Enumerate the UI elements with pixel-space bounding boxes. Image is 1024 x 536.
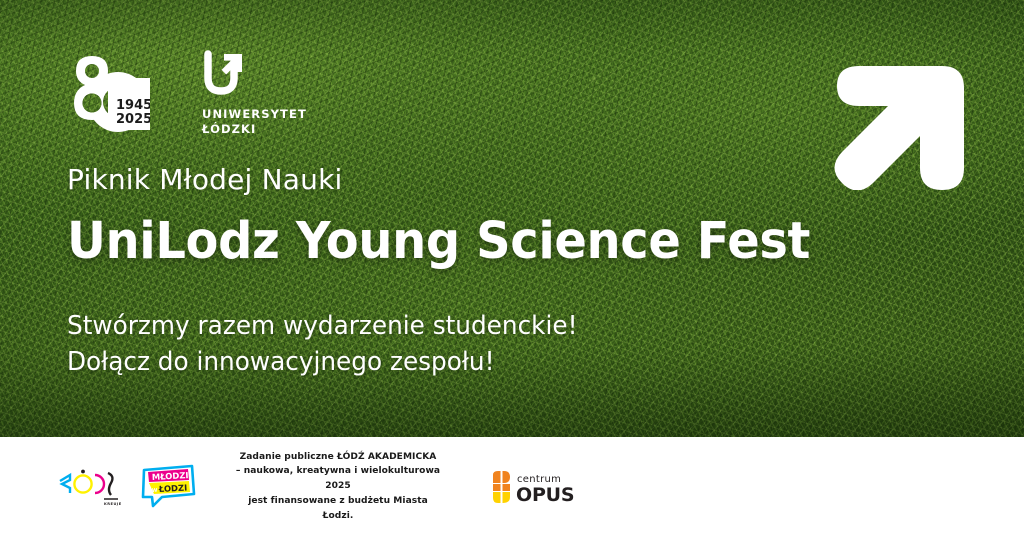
funding-line-2: – naukowa, kreatywna i wielokulturowa 20…	[232, 464, 444, 493]
ul-logo-line1: UNIWERSYTET	[202, 107, 306, 122]
subtitle-block: Stwórzmy razem wydarzenie studenckie! Do…	[67, 309, 927, 380]
logo-row: 1945 2025 UNIWERSYTET ŁÓDZKI	[66, 50, 306, 138]
anniversary-80-icon: 1945 2025	[66, 50, 150, 138]
svg-text:OPUS: OPUS	[516, 484, 574, 505]
subtitle-line-1: Stwórzmy razem wydarzenie studenckie!	[67, 309, 901, 345]
poster-root: 1945 2025 UNIWERSYTET ŁÓDZKI Pik	[0, 0, 1024, 536]
svg-text:1945: 1945	[116, 98, 150, 113]
headline-block: Piknik Młodej Nauki UniLodz Young Scienc…	[67, 166, 927, 380]
funding-line-1: Zadanie publiczne ŁÓDŹ AKADEMICKA	[232, 450, 444, 465]
funding-statement: Zadanie publiczne ŁÓDŹ AKADEMICKA – nauk…	[232, 450, 444, 524]
ul-logo-text: UNIWERSYTET ŁÓDZKI	[202, 107, 306, 137]
kicker-text: Piknik Młodej Nauki	[67, 166, 927, 194]
svg-text:KREUJE: KREUJE	[104, 502, 122, 506]
funding-line-3: jest finansowane z budżetu Miasta Łodzi.	[232, 494, 444, 523]
hero-grass-background: 1945 2025 UNIWERSYTET ŁÓDZKI Pik	[0, 0, 1024, 437]
footer-content: KREUJE MŁODZI W ŁODZI Zadanie publiczne …	[0, 450, 1024, 524]
uniwersytet-lodzki-logo: UNIWERSYTET ŁÓDZKI	[202, 50, 306, 138]
mlodzi-w-lodzi-logo-icon: MŁODZI W ŁODZI	[140, 464, 196, 510]
svg-text:2025: 2025	[116, 112, 150, 127]
page-title: UniLodz Young Science Fest	[67, 216, 875, 267]
centrum-opus-logo-icon: centrum OPUS	[490, 469, 580, 505]
svg-text:W: W	[152, 487, 158, 493]
ul-arrow-mark-icon	[202, 50, 246, 98]
ul-logo-line2: ŁÓDZKI	[202, 122, 306, 137]
svg-text:ŁODZI: ŁODZI	[158, 482, 188, 494]
svg-text:MŁODZI: MŁODZI	[152, 470, 189, 482]
lodz-kreuje-logo-icon: KREUJE	[56, 465, 126, 509]
subtitle-line-2: Dołącz do innowacyjnego zespołu!	[67, 345, 901, 381]
footer-bar: KREUJE MŁODZI W ŁODZI Zadanie publiczne …	[0, 437, 1024, 536]
